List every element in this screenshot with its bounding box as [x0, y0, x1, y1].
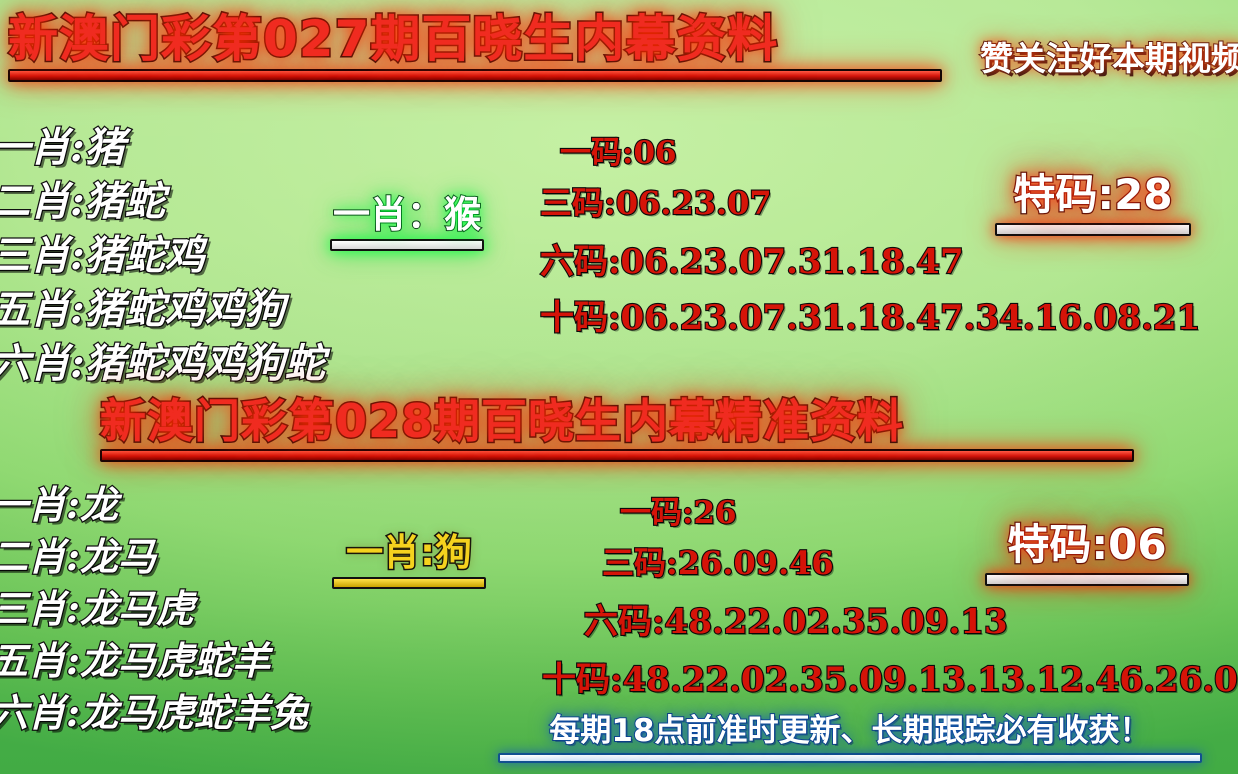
section1-single-zodiac-underline [330, 239, 484, 251]
section1-zodiac-list: 一肖:猪 二肖:猪蛇 三肖:猪蛇鸡 五肖:猪蛇鸡鸡狗 六肖:猪蛇鸡鸡狗蛇 [0, 128, 325, 398]
zodiac-row: 三肖:龙马虎 [0, 590, 308, 628]
zodiac-row: 二肖:猪蛇 [0, 182, 325, 222]
poster-canvas: 新澳门彩第027期百晓生内幕资料 赞关注好本期视频 一肖:猪 二肖:猪蛇 三肖:… [0, 0, 1238, 774]
section1-special-code-underline [995, 223, 1191, 236]
section2-single-zodiac-text: 一肖:狗 [332, 534, 486, 571]
code-row-ten: 十码:06.23.07.31.18.47.34.16.08.21 [540, 301, 1200, 335]
zodiac-row: 一肖:龙 [0, 486, 308, 524]
code-row-ten: 十码:48.22.02.35.09.13.13.12.46.26.03 [542, 663, 1238, 697]
zodiac-row: 三肖:猪蛇鸡 [0, 236, 325, 276]
section2-banner: 新澳门彩第028期百晓生内幕精准资料 [100, 398, 1134, 462]
section1-single-zodiac-text: 一肖：猴 [330, 196, 484, 233]
zodiac-row: 二肖:龙马 [0, 538, 308, 576]
footer-note-underline [498, 753, 1202, 763]
section1-code-list: 一码:06 三码:06.23.07 六码:06.23.07.31.18.47 十… [540, 138, 1200, 335]
section1-special-code: 特码:28 [995, 174, 1191, 236]
section2-single-zodiac-badge: 一肖:狗 [332, 534, 486, 589]
section2-special-code-underline [985, 573, 1189, 586]
code-row-six: 六码:48.22.02.35.09.13 [584, 605, 1238, 639]
section2-banner-underline [100, 449, 1134, 462]
zodiac-row: 六肖:猪蛇鸡鸡狗蛇 [0, 344, 325, 384]
zodiac-row: 六肖:龙马虎蛇羊兔 [0, 694, 308, 732]
section1-banner: 新澳门彩第027期百晓生内幕资料 [8, 14, 942, 82]
section2-zodiac-list: 一肖:龙 二肖:龙马 三肖:龙马虎 五肖:龙马虎蛇羊 六肖:龙马虎蛇羊兔 [0, 486, 308, 746]
promo-text: 赞关注好本期视频 [980, 32, 1238, 80]
content-layer: 新澳门彩第027期百晓生内幕资料 赞关注好本期视频 一肖:猪 二肖:猪蛇 三肖:… [0, 0, 1238, 774]
footer-note: 每期18点前准时更新、长期跟踪必有收获！ [498, 716, 1202, 763]
footer-note-text: 每期18点前准时更新、长期跟踪必有收获！ [498, 716, 1202, 747]
section2-special-code: 特码:06 [985, 524, 1189, 586]
zodiac-row: 五肖:猪蛇鸡鸡狗 [0, 290, 325, 330]
code-row-six: 六码:06.23.07.31.18.47 [540, 245, 1200, 279]
section2-single-zodiac-underline [332, 577, 486, 589]
zodiac-row: 一肖:猪 [0, 128, 325, 168]
section1-special-code-text: 特码:28 [995, 174, 1191, 216]
section1-banner-underline [8, 69, 942, 82]
section2-banner-title: 新澳门彩第028期百晓生内幕精准资料 [100, 398, 1134, 444]
section1-single-zodiac-badge: 一肖：猴 [330, 196, 484, 251]
section1-banner-title: 新澳门彩第027期百晓生内幕资料 [8, 14, 942, 64]
section2-special-code-text: 特码:06 [985, 524, 1189, 566]
code-row-one: 一码:06 [560, 138, 1200, 169]
zodiac-row: 五肖:龙马虎蛇羊 [0, 642, 308, 680]
